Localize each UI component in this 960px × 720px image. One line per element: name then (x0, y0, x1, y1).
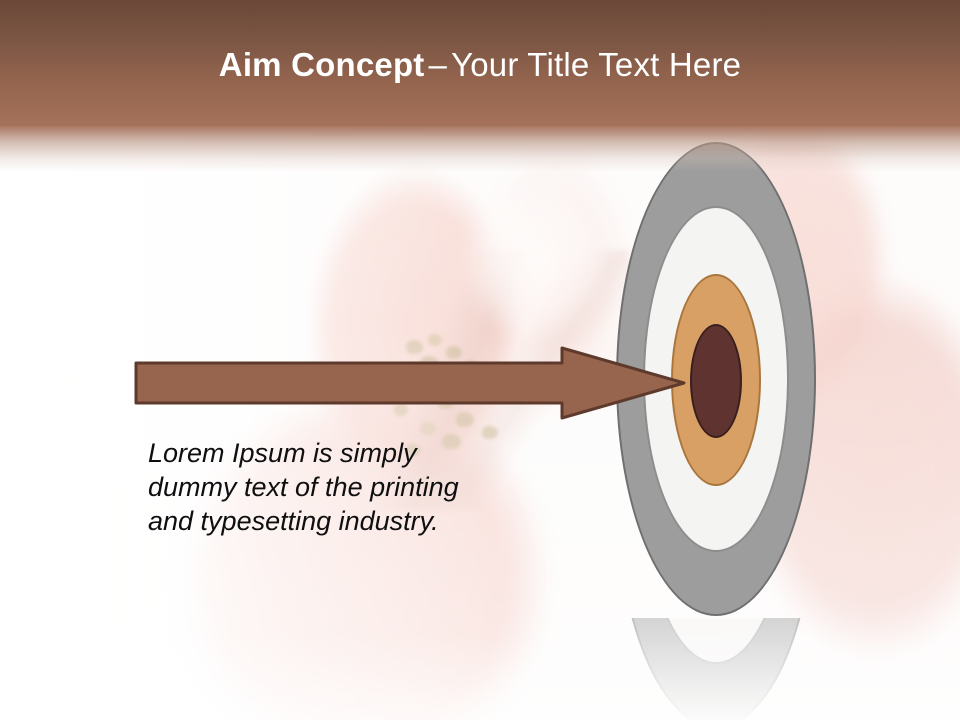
target-bullseye (690, 324, 742, 438)
title-subtitle: Your Title Text Here (451, 46, 741, 83)
target-reflection (616, 618, 816, 720)
page-title: Aim Concept–Your Title Text Here (0, 44, 960, 86)
body-text: Lorem Ipsum is simply dummy text of the … (148, 436, 548, 538)
slide-canvas: Aim Concept–Your Title Text Here Lorem I… (0, 0, 960, 720)
title-main: Aim Concept (219, 46, 425, 83)
body-line-1: Lorem Ipsum is simply (148, 436, 548, 470)
aim-arrow[interactable] (134, 344, 686, 422)
body-line-2: dummy text of the printing (148, 470, 548, 504)
title-band-fade (0, 126, 960, 172)
body-line-3: and typesetting industry. (148, 504, 548, 538)
title-separator: – (425, 46, 452, 83)
